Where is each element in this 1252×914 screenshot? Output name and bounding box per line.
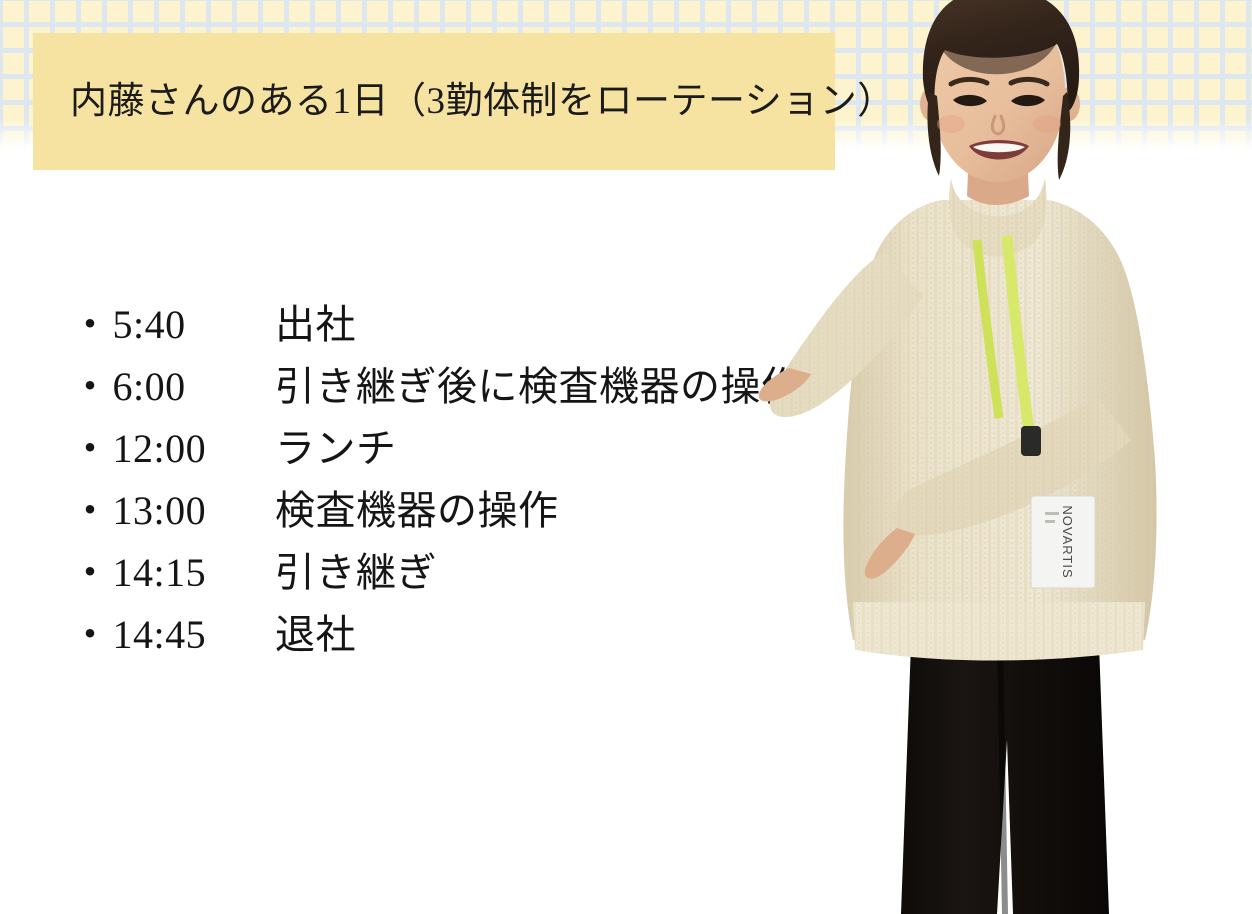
- schedule-row-time: ・14:45: [70, 602, 275, 660]
- schedule-row-label: 引き継ぎ後に検査機器の操作: [275, 354, 802, 412]
- bullet-marker: ・: [70, 478, 111, 536]
- bullet-marker: ・: [70, 354, 111, 412]
- schedule-row-time: ・12:00: [70, 416, 275, 474]
- employee-photo: NOVARTIS: [745, 0, 1252, 914]
- schedule-row-time: ・6:00: [70, 354, 275, 412]
- schedule-time-value: 6:00: [113, 364, 186, 409]
- schedule-time-value: 13:00: [113, 488, 207, 533]
- bullet-marker: ・: [70, 540, 111, 598]
- bullet-marker: ・: [70, 602, 111, 660]
- schedule-row-label: 出社: [275, 292, 356, 350]
- schedule-row-time: ・14:15: [70, 540, 275, 598]
- schedule-time-value: 5:40: [113, 302, 186, 347]
- slide-root: 内藤さんのある1日（3勤体制をローテーション） ・5:40 出社 ・6:00 引…: [0, 0, 1252, 914]
- schedule-row-time: ・5:40: [70, 292, 275, 350]
- title-banner: 内藤さんのある1日（3勤体制をローテーション）: [33, 33, 835, 170]
- schedule-row-time: ・13:00: [70, 478, 275, 536]
- schedule-time-value: 14:45: [113, 612, 207, 657]
- bullet-marker: ・: [70, 292, 111, 350]
- schedule-time-value: 12:00: [113, 426, 207, 471]
- schedule-row-label: 検査機器の操作: [275, 478, 559, 536]
- sweater-shape: [770, 178, 1157, 661]
- svg-text:NOVARTIS: NOVARTIS: [1060, 505, 1075, 578]
- id-badge: NOVARTIS: [1031, 496, 1095, 588]
- head: [920, 0, 1080, 205]
- schedule-time-value: 14:15: [113, 550, 207, 595]
- schedule-row-label: ランチ: [275, 416, 397, 474]
- bullet-marker: ・: [70, 416, 111, 474]
- schedule-row-label: 退社: [275, 602, 356, 660]
- schedule-row-label: 引き継ぎ: [275, 540, 437, 598]
